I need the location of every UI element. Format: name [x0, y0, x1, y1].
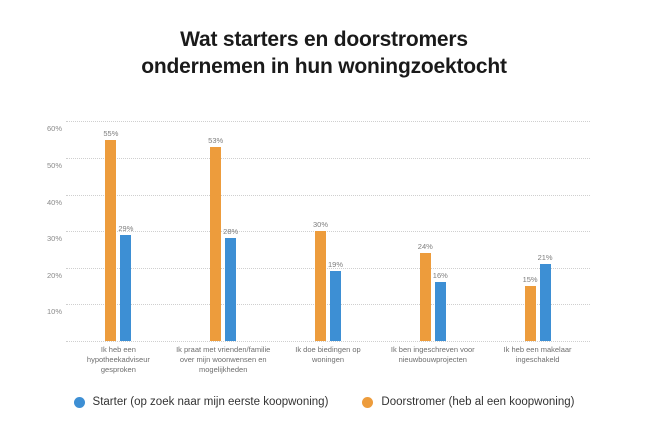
- bar-group: 53%28%: [210, 103, 236, 341]
- bar-group: 55%29%: [105, 103, 131, 341]
- x-axis-category-labels: Ik heb eenhypotheekadviseurgesprokenIk p…: [66, 345, 590, 385]
- bar-group: 24%16%: [420, 103, 446, 341]
- bar-group: 15%21%: [525, 103, 551, 341]
- bar-value-label: 55%: [96, 129, 126, 138]
- bar-blue[interactable]: [540, 264, 551, 341]
- bar-value-label: 24%: [410, 242, 440, 251]
- page-title: Wat starters en doorstromers ondernemen …: [0, 26, 648, 80]
- legend-item-label: Doorstromer (heb al een koopwoning): [381, 396, 574, 408]
- bar-blue[interactable]: [120, 235, 131, 341]
- bar-orange[interactable]: [525, 286, 536, 341]
- x-axis-tick-label-line: Ik praat met vrienden/familie: [163, 345, 284, 355]
- legend: Starter (op zoek naar mijn eerste koopwo…: [0, 396, 648, 408]
- y-axis: 10%20%30%40%50%60%: [30, 103, 62, 341]
- y-axis-tick-label: 10%: [30, 307, 62, 316]
- x-axis-tick-label-line: hypotheekadviseur: [58, 355, 179, 365]
- x-axis-tick-label-line: nieuwbouwprojecten: [372, 355, 493, 365]
- y-axis-tick-label: 50%: [30, 161, 62, 170]
- y-axis-tick-label: 20%: [30, 271, 62, 280]
- circle-marker-icon: [74, 397, 85, 408]
- y-axis-tick-label: 30%: [30, 234, 62, 243]
- legend-item-label: Starter (op zoek naar mijn eerste koopwo…: [93, 396, 329, 408]
- x-axis-tick-label-line: Ik doe biedingen op: [268, 345, 389, 355]
- bar-orange[interactable]: [210, 147, 221, 341]
- bar-value-label: 19%: [321, 260, 351, 269]
- x-axis-tick-label: Ik praat met vrienden/familieover mijn w…: [163, 345, 284, 375]
- bar-blue[interactable]: [225, 238, 236, 341]
- bar-value-label: 53%: [201, 136, 231, 145]
- bar-blue[interactable]: [330, 271, 341, 341]
- bar-value-label: 21%: [530, 253, 560, 262]
- bar-group: 30%19%: [315, 103, 341, 341]
- x-axis-tick-label-line: Ik heb een: [58, 345, 179, 355]
- x-axis-tick-label: Ik doe biedingen opwoningen: [268, 345, 389, 365]
- legend-item[interactable]: Doorstromer (heb al een koopwoning): [362, 396, 574, 408]
- bar-blue[interactable]: [435, 282, 446, 341]
- x-axis-tick-label-line: mogelijkheden: [163, 365, 284, 375]
- bar-value-label: 16%: [425, 271, 455, 280]
- legend-item[interactable]: Starter (op zoek naar mijn eerste koopwo…: [74, 396, 329, 408]
- gridline: [66, 341, 590, 342]
- x-axis-tick-label: Ik heb een makelaaringeschakeld: [477, 345, 598, 365]
- title-line-2: ondernemen in hun woningzoektocht: [0, 53, 648, 80]
- y-axis-tick-label: 40%: [30, 198, 62, 207]
- y-axis-tick-label: 60%: [30, 124, 62, 133]
- x-axis-tick-label: Ik ben ingeschreven voornieuwbouwproject…: [372, 345, 493, 365]
- x-axis-tick-label-line: Ik heb een makelaar: [477, 345, 598, 355]
- x-axis-tick-label-line: over mijn woonwensen en: [163, 355, 284, 365]
- title-line-1: Wat starters en doorstromers: [0, 26, 648, 53]
- plot-area: 55%29%53%28%30%19%24%16%15%21%: [66, 103, 590, 341]
- bar-value-label: 28%: [216, 227, 246, 236]
- x-axis-tick-label-line: Ik ben ingeschreven voor: [372, 345, 493, 355]
- x-axis-tick-label-line: ingeschakeld: [477, 355, 598, 365]
- bar-orange[interactable]: [105, 140, 116, 341]
- circle-marker-icon: [362, 397, 373, 408]
- bar-value-label: 29%: [111, 224, 141, 233]
- x-axis-tick-label: Ik heb eenhypotheekadviseurgesproken: [58, 345, 179, 375]
- x-axis-tick-label-line: gesproken: [58, 365, 179, 375]
- bar-orange[interactable]: [315, 231, 326, 341]
- x-axis-tick-label-line: woningen: [268, 355, 389, 365]
- bar-orange[interactable]: [420, 253, 431, 341]
- bar-value-label: 30%: [306, 220, 336, 229]
